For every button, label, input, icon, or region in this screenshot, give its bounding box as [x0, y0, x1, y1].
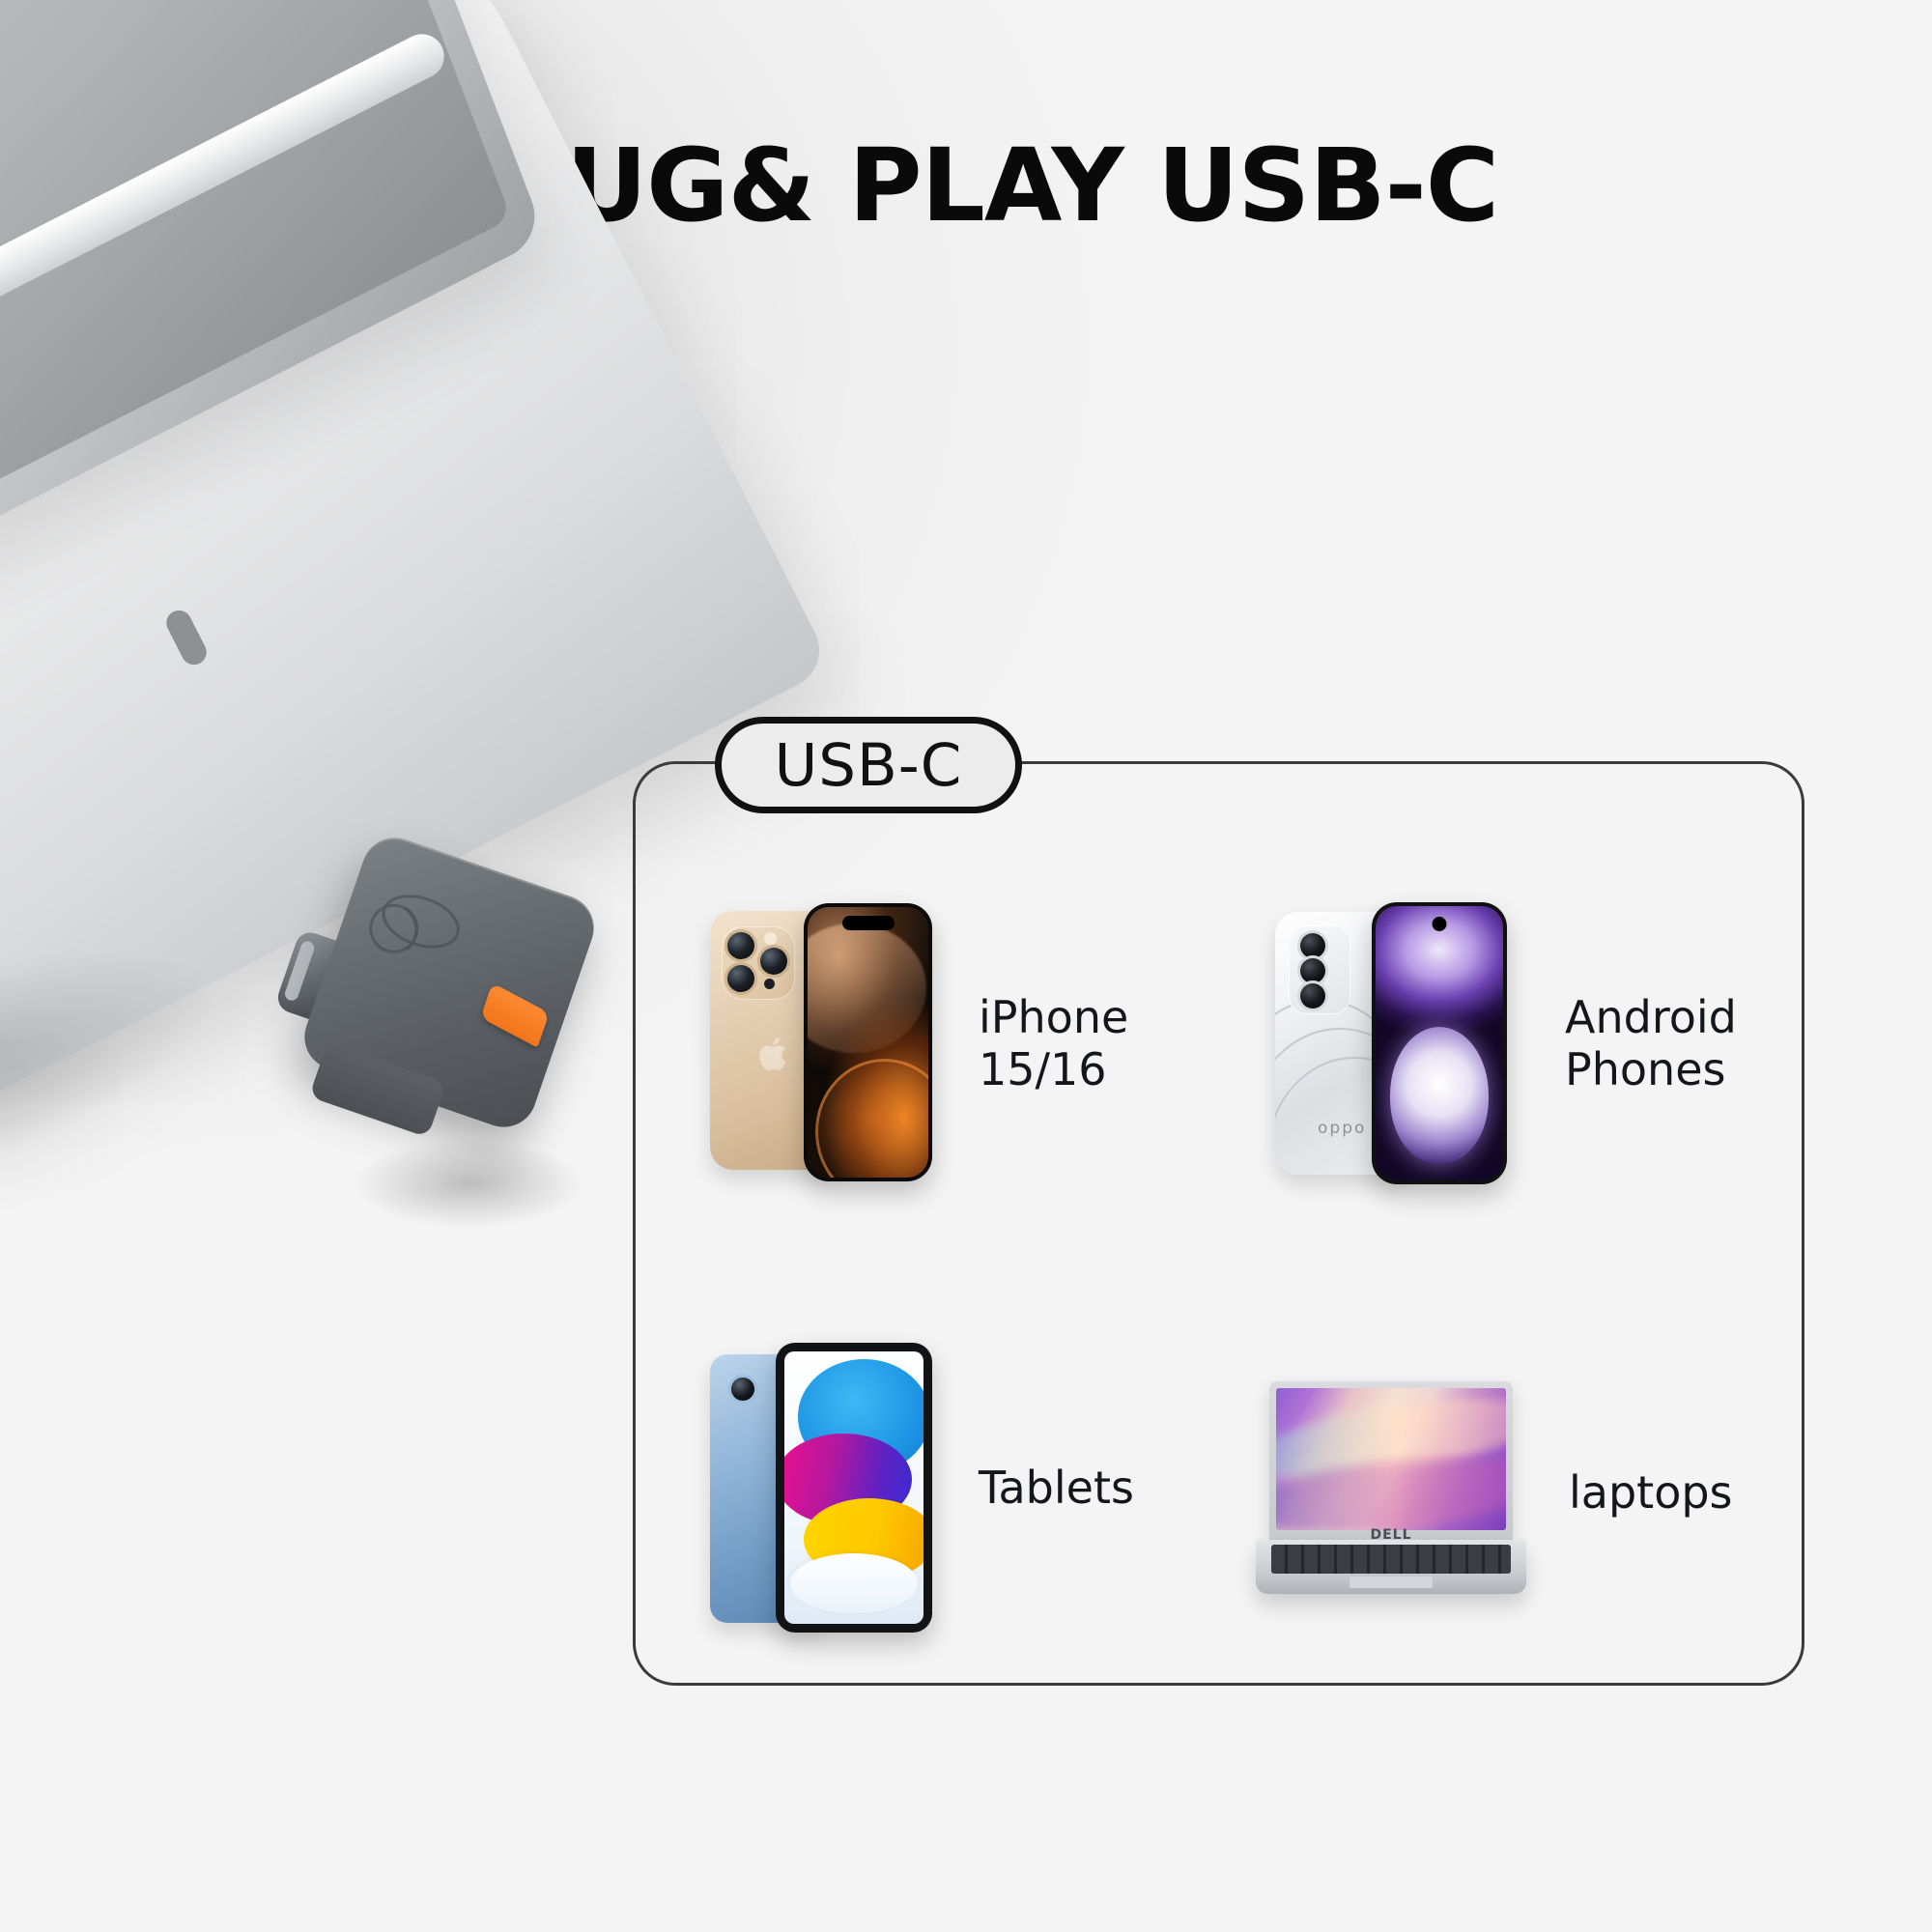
- apple-logo-icon: [758, 1035, 791, 1073]
- ipad-front-display: [776, 1343, 932, 1633]
- oppo-camera-module-icon: [1289, 925, 1350, 1014]
- iphone-front-display: [804, 903, 932, 1181]
- compat-label-android: Android Phones: [1565, 991, 1737, 1095]
- punch-hole-camera-icon: [1433, 917, 1447, 931]
- compat-label-iphone: iPhone 15/16: [979, 991, 1251, 1095]
- oppo-logo: oppo: [1318, 1119, 1366, 1138]
- compat-item-laptop: DELL laptops: [1256, 1367, 1816, 1618]
- compat-item-tablet: Tablets: [710, 1343, 1251, 1633]
- usb-c-badge: USB-C: [715, 717, 1022, 813]
- iphone-camera-module-icon: [722, 926, 795, 1000]
- compat-label-laptop: laptops: [1569, 1466, 1733, 1519]
- tablet-art: [710, 1343, 932, 1633]
- compat-item-android: oppo Android Phones: [1275, 903, 1816, 1183]
- dongle-shadow: [309, 1121, 628, 1246]
- usb-c-dongle: [290, 831, 657, 1198]
- wallpaper-ring: [1390, 1027, 1490, 1164]
- laptop-art: DELL: [1256, 1381, 1526, 1604]
- dell-keyboard-icon: [1271, 1545, 1511, 1574]
- oppo-front-display: [1372, 902, 1507, 1184]
- ipad-camera-icon: [731, 1378, 754, 1401]
- compat-item-iphone: iPhone 15/16: [710, 903, 1251, 1183]
- dell-base: [1256, 1540, 1526, 1594]
- dell-lid: DELL: [1269, 1381, 1513, 1544]
- compat-label-tablet: Tablets: [979, 1462, 1134, 1514]
- iphone-art: [710, 903, 932, 1183]
- dell-trackpad: [1350, 1577, 1433, 1588]
- dynamic-island-icon: [842, 916, 895, 930]
- infographic-canvas: PLUG& PLAY USB-C: [0, 0, 1932, 1932]
- android-phone-art: oppo: [1275, 902, 1507, 1184]
- dell-display: [1276, 1388, 1506, 1530]
- usb-c-badge-label: USB-C: [775, 731, 963, 800]
